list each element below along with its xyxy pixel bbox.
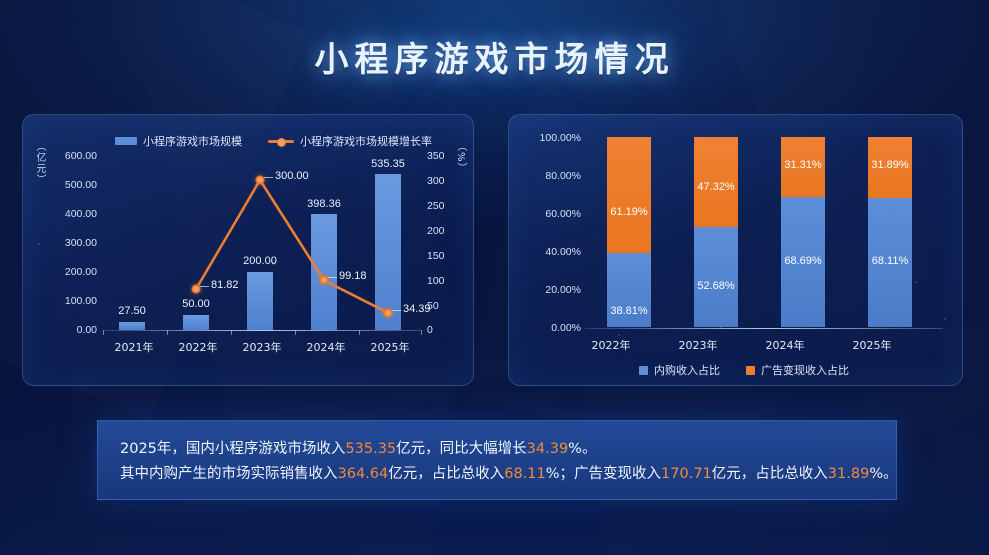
legend-label: 小程序游戏市场规模增长率 xyxy=(300,133,432,149)
legend-label: 广告变现收入占比 xyxy=(761,362,849,378)
summary-highlight: 31.89 xyxy=(828,466,870,482)
summary-text: 亿元，占比总收入 xyxy=(712,466,828,482)
revenue-split-legend: 内购收入占比 广告变现收入占比 xyxy=(639,362,849,378)
legend-label: 小程序游戏市场规模 xyxy=(143,133,242,149)
x-label-2023: 2023年 xyxy=(228,339,296,355)
y-tick-20: 20.00% xyxy=(515,284,581,296)
y-tick-80: 80.00% xyxy=(515,170,581,182)
y-tick-right-250: 250 xyxy=(427,200,445,212)
y-tick-right-150: 150 xyxy=(427,250,445,262)
stacked-bar-2025[interactable]: 68.11% 31.89% xyxy=(868,137,912,327)
stacked-bar-2022[interactable]: 38.81% 61.19% xyxy=(607,137,651,327)
segment-inapp-2023[interactable] xyxy=(694,227,738,327)
revenue-split-chart-panel: 100.00% 80.00% 60.00% 40.00% 20.00% 0.00… xyxy=(508,114,963,386)
summary-highlight: 170.71 xyxy=(661,466,712,482)
x-axis-line xyxy=(585,328,943,329)
x-label-2024: 2024年 xyxy=(292,339,360,355)
x-label-2023: 2023年 xyxy=(662,337,734,353)
market-size-plot: 27.50 50.00 200.00 398.36 535.35 81.82 3… xyxy=(103,155,421,330)
segment-label-ads-2023: 47.32% xyxy=(694,181,738,193)
y-tick-left-100: 100.00 xyxy=(43,295,97,307)
summary-text: 其中内购产生的市场实际销售收入 xyxy=(120,466,338,482)
summary-highlight: 34.39 xyxy=(527,441,569,457)
summary-text: %；广告变现收入 xyxy=(546,466,661,482)
bar-swatch-icon xyxy=(115,137,137,145)
summary-line-2: 其中内购产生的市场实际销售收入364.64亿元，占比总收入68.11%；广告变现… xyxy=(120,462,874,487)
y-axis-right-label: （%） xyxy=(453,141,468,174)
line-label-2025: 34.39 xyxy=(403,303,431,315)
y-tick-right-350: 350 xyxy=(427,150,445,162)
legend-item-inapp-revenue[interactable]: 内购收入占比 xyxy=(639,362,720,378)
y-tick-left-400: 400.00 xyxy=(43,208,97,220)
y-tick-left-0: 0.00 xyxy=(43,324,97,336)
y-tick-right-0: 0 xyxy=(427,324,433,336)
segment-label-ads-2024: 31.31% xyxy=(781,159,825,171)
x-label-2021: 2021年 xyxy=(100,339,168,355)
segment-ads-2022[interactable] xyxy=(607,137,651,253)
revenue-split-plot: 38.81% 61.19% 52.68% 47.32% 68.69% 31.31… xyxy=(589,137,939,327)
y-tick-0: 0.00% xyxy=(515,322,581,334)
summary-text: 亿元，同比大幅增长 xyxy=(396,441,527,457)
legend-item-growth-rate[interactable]: 小程序游戏市场规模增长率 xyxy=(268,133,432,149)
legend-item-ad-revenue[interactable]: 广告变现收入占比 xyxy=(746,362,849,378)
summary-highlight: 364.64 xyxy=(338,466,389,482)
summary-text: 亿元，占比总收入 xyxy=(388,466,504,482)
y-tick-left-500: 500.00 xyxy=(43,179,97,191)
line-label-2024: 99.18 xyxy=(339,270,367,282)
y-tick-right-300: 300 xyxy=(427,175,445,187)
summary-text: 2025年，国内小程序游戏市场收入 xyxy=(120,441,345,457)
segment-label-inapp-2022: 38.81% xyxy=(607,305,651,317)
summary-text: %。 xyxy=(869,466,897,482)
page-title-text: 小程序游戏市场情况 xyxy=(315,32,675,81)
line-marker-icon xyxy=(268,137,294,146)
line-label-2022: 81.82 xyxy=(211,279,239,291)
summary-callout-box: 2025年，国内小程序游戏市场收入535.35亿元，同比大幅增长34.39%。 … xyxy=(97,420,897,500)
y-tick-right-100: 100 xyxy=(427,275,445,287)
summary-highlight: 535.35 xyxy=(345,441,396,457)
y-tick-left-600: 600.00 xyxy=(43,150,97,162)
y-tick-40: 40.00% xyxy=(515,246,581,258)
x-axis-line xyxy=(103,330,421,331)
x-label-2025: 2025年 xyxy=(836,337,908,353)
stacked-bar-2024[interactable]: 68.69% 31.31% xyxy=(781,137,825,327)
x-label-2022: 2022年 xyxy=(164,339,232,355)
stacked-bar-2023[interactable]: 52.68% 47.32% xyxy=(694,137,738,327)
x-label-2024: 2024年 xyxy=(749,337,821,353)
market-size-legend: 小程序游戏市场规模 小程序游戏市场规模增长率 xyxy=(115,133,432,149)
segment-label-inapp-2025: 68.11% xyxy=(868,255,912,267)
orange-swatch-icon xyxy=(746,366,755,375)
legend-label: 内购收入占比 xyxy=(654,362,720,378)
market-size-chart-panel: 小程序游戏市场规模 小程序游戏市场规模增长率 （亿元） （%） 600.00 5… xyxy=(22,114,474,386)
legend-item-market-size[interactable]: 小程序游戏市场规模 xyxy=(115,133,242,149)
segment-label-inapp-2023: 52.68% xyxy=(694,280,738,292)
segment-label-ads-2025: 31.89% xyxy=(868,159,912,171)
line-label-2023: 300.00 xyxy=(275,170,309,182)
page-title: 小程序游戏市场情况 xyxy=(0,32,989,81)
y-tick-right-200: 200 xyxy=(427,225,445,237)
blue-swatch-icon xyxy=(639,366,648,375)
y-tick-left-300: 300.00 xyxy=(43,237,97,249)
summary-text: %。 xyxy=(568,441,596,457)
y-tick-100: 100.00% xyxy=(515,132,581,144)
x-label-2025: 2025年 xyxy=(356,339,424,355)
y-tick-left-200: 200.00 xyxy=(43,266,97,278)
y-tick-60: 60.00% xyxy=(515,208,581,220)
segment-label-ads-2022: 61.19% xyxy=(607,206,651,218)
summary-line-1: 2025年，国内小程序游戏市场收入535.35亿元，同比大幅增长34.39%。 xyxy=(120,437,874,462)
x-label-2022: 2022年 xyxy=(575,337,647,353)
summary-highlight: 68.11 xyxy=(504,466,546,482)
segment-label-inapp-2024: 68.69% xyxy=(781,255,825,267)
